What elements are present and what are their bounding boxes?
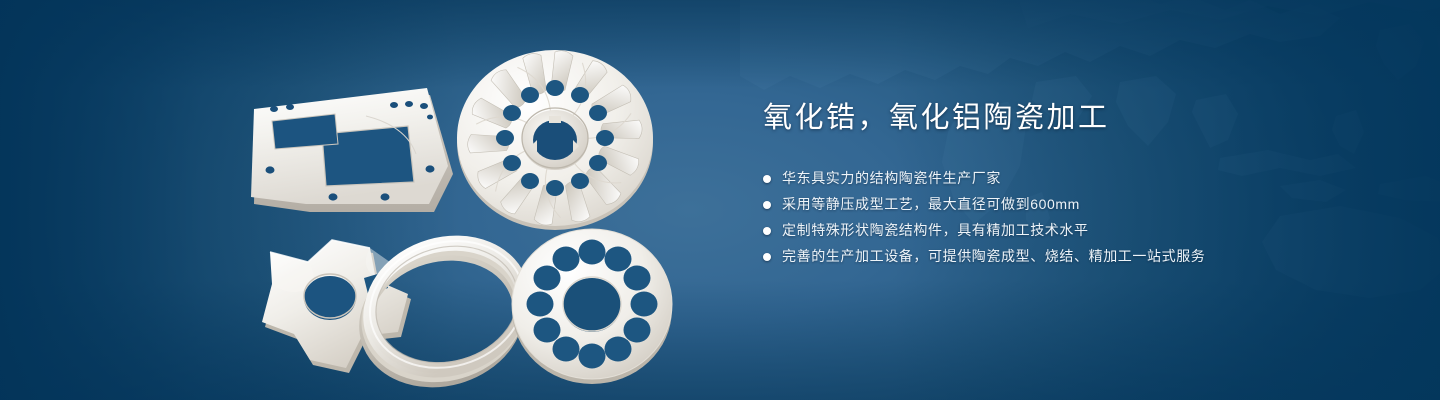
list-item-label: 完善的生产加工设备，可提供陶瓷成型、烧结、精加工一站式服务 — [782, 246, 1205, 267]
bullet-dot-icon — [763, 227, 771, 235]
list-item-label: 定制特殊形状陶瓷结构件，具有精加工技术水平 — [782, 220, 1089, 241]
list-item-label: 采用等静压成型工艺，最大直径可做到600mm — [782, 194, 1080, 215]
list-item: 完善的生产加工设备，可提供陶瓷成型、烧结、精加工一站式服务 — [763, 246, 1383, 267]
ceramic-vaned-impeller — [448, 42, 663, 232]
ceramic-perforated-disc — [506, 222, 681, 387]
page-title: 氧化锆，氧化铝陶瓷加工 — [763, 104, 1383, 133]
bullet-dot-icon — [763, 253, 771, 261]
product-image-group — [248, 42, 688, 377]
feature-list: 华东具实力的结构陶瓷件生产厂家 采用等静压成型工艺，最大直径可做到600mm 定… — [763, 168, 1383, 267]
banner-text-column: 氧化锆，氧化铝陶瓷加工 华东具实力的结构陶瓷件生产厂家 采用等静压成型工艺，最大… — [763, 104, 1383, 272]
list-item: 华东具实力的结构陶瓷件生产厂家 — [763, 168, 1383, 189]
list-item: 定制特殊形状陶瓷结构件，具有精加工技术水平 — [763, 220, 1383, 241]
bullet-dot-icon — [763, 201, 771, 209]
list-item: 采用等静压成型工艺，最大直径可做到600mm — [763, 194, 1383, 215]
promo-banner: 氧化锆，氧化铝陶瓷加工 华东具实力的结构陶瓷件生产厂家 采用等静压成型工艺，最大… — [0, 0, 1440, 400]
bullet-dot-icon — [763, 175, 771, 183]
ceramic-mounting-plate — [248, 82, 458, 217]
list-item-label: 华东具实力的结构陶瓷件生产厂家 — [782, 168, 1001, 189]
